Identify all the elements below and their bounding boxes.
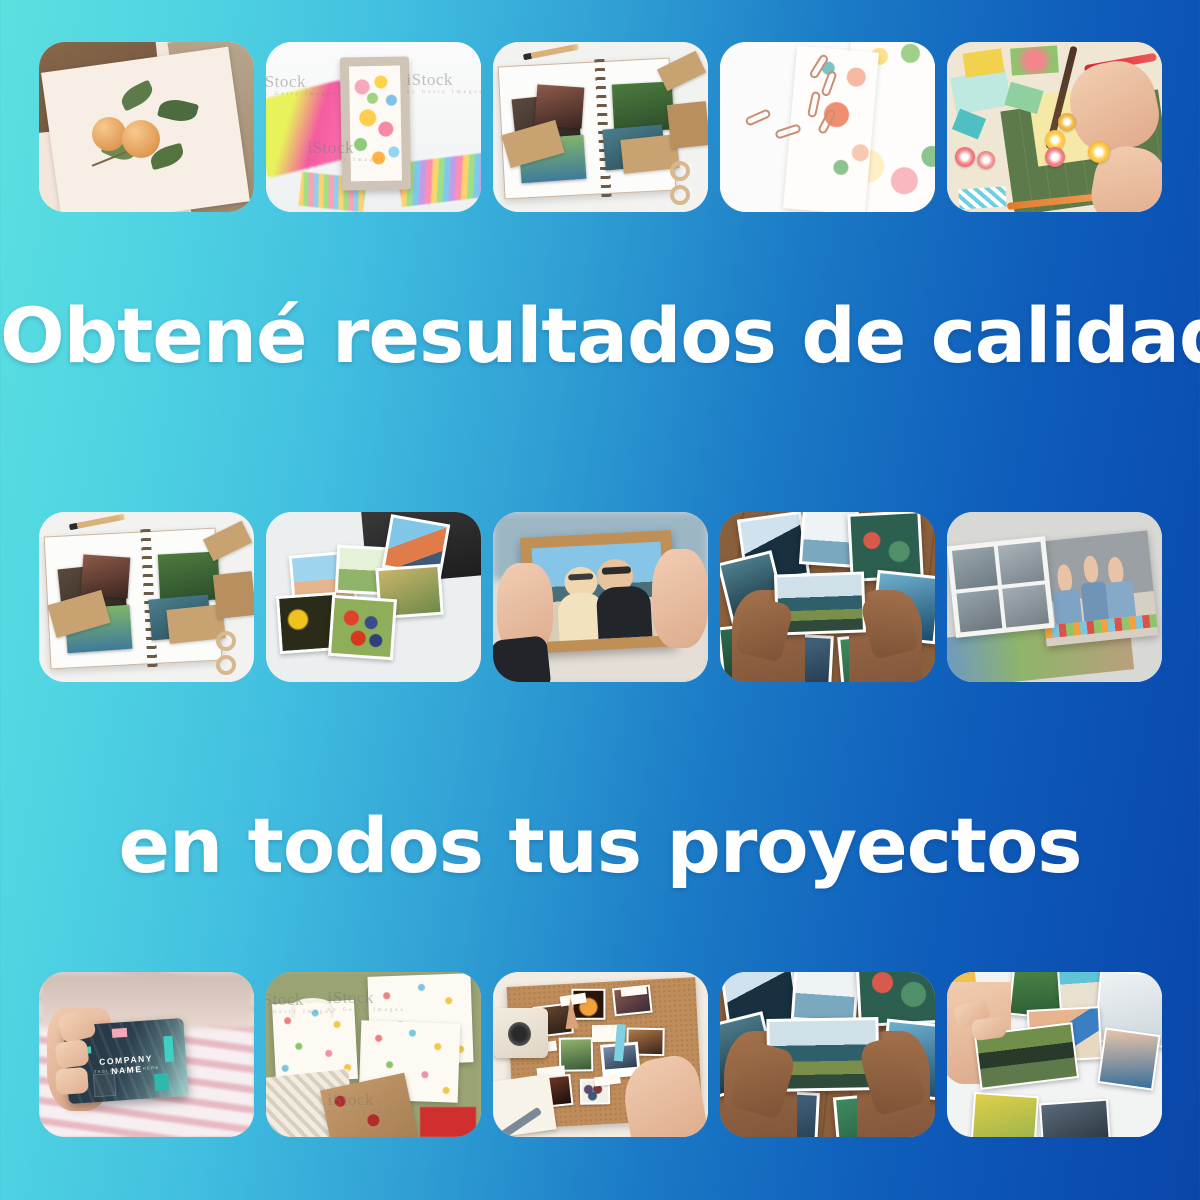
promo-banner: iStockby Getty Images iStockby Getty Ima…	[0, 0, 1200, 1200]
scene-travel-prints	[720, 512, 935, 682]
scene-photo-book	[947, 512, 1162, 682]
scene-business-card: COMPANY NAME TAGLINE GOES HERE	[39, 972, 254, 1137]
photo-tile-scrapbook[interactable]	[39, 512, 254, 682]
scene-quilling	[947, 42, 1162, 212]
photo-tile-sorting-prints[interactable]	[947, 972, 1162, 1137]
photo-tile-travel-prints-wood[interactable]	[720, 972, 935, 1137]
headline-line-2: en todos tus proyectos	[0, 802, 1200, 890]
scene-printed-photos	[266, 512, 481, 682]
headline-line-1: Obtené resultados de calidad	[0, 292, 1200, 380]
photo-tile-scrapbook[interactable]	[493, 42, 708, 212]
scene-sorting-prints	[947, 972, 1162, 1137]
photo-tile-botanical-card[interactable]	[39, 42, 254, 212]
scene-framed-art: iStockby Getty Images iStockby Getty Ima…	[266, 42, 481, 212]
scene-cork-board	[493, 972, 708, 1137]
photo-tile-gift-boxes[interactable]: iStockby Getty Images iStockby Getty Ima…	[266, 972, 481, 1137]
scene-scrapbook	[39, 512, 254, 682]
photo-row-1: iStockby Getty Images iStockby Getty Ima…	[0, 42, 1200, 212]
scene-framed-couple	[493, 512, 708, 682]
scene-gift-boxes: iStockby Getty Images iStockby Getty Ima…	[266, 972, 481, 1137]
photo-tile-printed-photos[interactable]	[266, 512, 481, 682]
photo-tile-framed-couple[interactable]	[493, 512, 708, 682]
photo-row-2	[0, 512, 1200, 682]
photo-tile-travel-prints-wood[interactable]	[720, 512, 935, 682]
scene-paperclips	[720, 42, 935, 212]
photo-row-3: COMPANY NAME TAGLINE GOES HERE	[0, 972, 1200, 1137]
scene-scrapbook	[493, 42, 708, 212]
scene-travel-prints	[720, 972, 935, 1137]
photo-tile-framed-floral-art[interactable]: iStockby Getty Images iStockby Getty Ima…	[266, 42, 481, 212]
photo-tile-business-card[interactable]: COMPANY NAME TAGLINE GOES HERE	[39, 972, 254, 1137]
scene-botanical	[39, 42, 254, 212]
photo-tile-quilling-craft[interactable]	[947, 42, 1162, 212]
photo-tile-photo-book[interactable]	[947, 512, 1162, 682]
photo-tile-cork-moodboard[interactable]	[493, 972, 708, 1137]
photo-tile-paperclips-stationery[interactable]	[720, 42, 935, 212]
